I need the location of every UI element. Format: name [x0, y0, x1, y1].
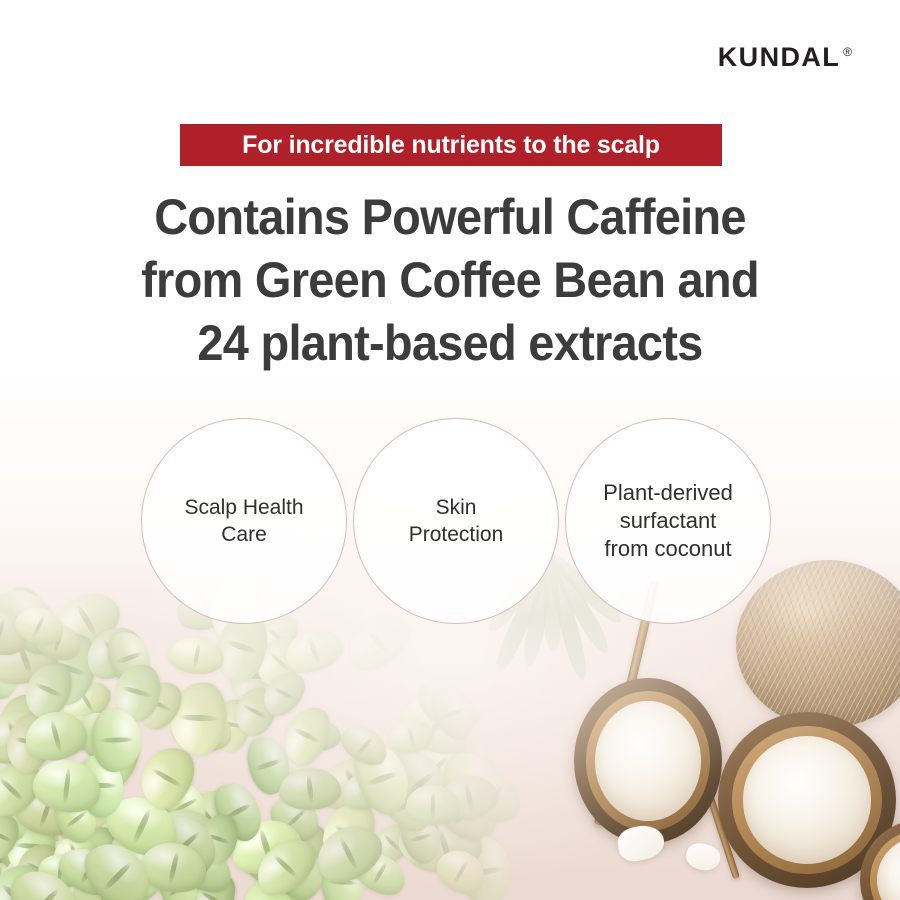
tagline-banner: For incredible nutrients to the scalp	[180, 124, 722, 166]
benefit-label: Scalp Health Care	[142, 494, 346, 548]
benefit-circle-group: Scalp Health Care Skin Protection Plant-…	[0, 418, 900, 628]
tagline-text: For incredible nutrients to the scalp	[242, 131, 660, 160]
headline-line-1: Contains Powerful Caffeine	[27, 186, 873, 249]
product-detail-image: KUNDAL® For incredible nutrients to the …	[0, 0, 900, 900]
headline-line-3: 24 plant-based extracts	[27, 312, 873, 375]
benefit-circle-plant-derived-surfactant: Plant-derived surfactant from coconut	[565, 418, 771, 624]
headline-line-2: from Green Coffee Bean and	[27, 249, 873, 312]
benefit-label: Plant-derived surfactant from coconut	[566, 479, 770, 563]
brand-logo: KUNDAL®	[718, 42, 852, 73]
page-title: Contains Powerful Caffeine from Green Co…	[27, 186, 873, 375]
benefit-circle-scalp-health-care: Scalp Health Care	[141, 418, 347, 624]
registered-trademark-icon: ®	[843, 45, 852, 59]
brand-name: KUNDAL	[718, 42, 840, 72]
benefit-label: Skin Protection	[354, 494, 558, 548]
benefit-circle-skin-protection: Skin Protection	[353, 418, 559, 624]
